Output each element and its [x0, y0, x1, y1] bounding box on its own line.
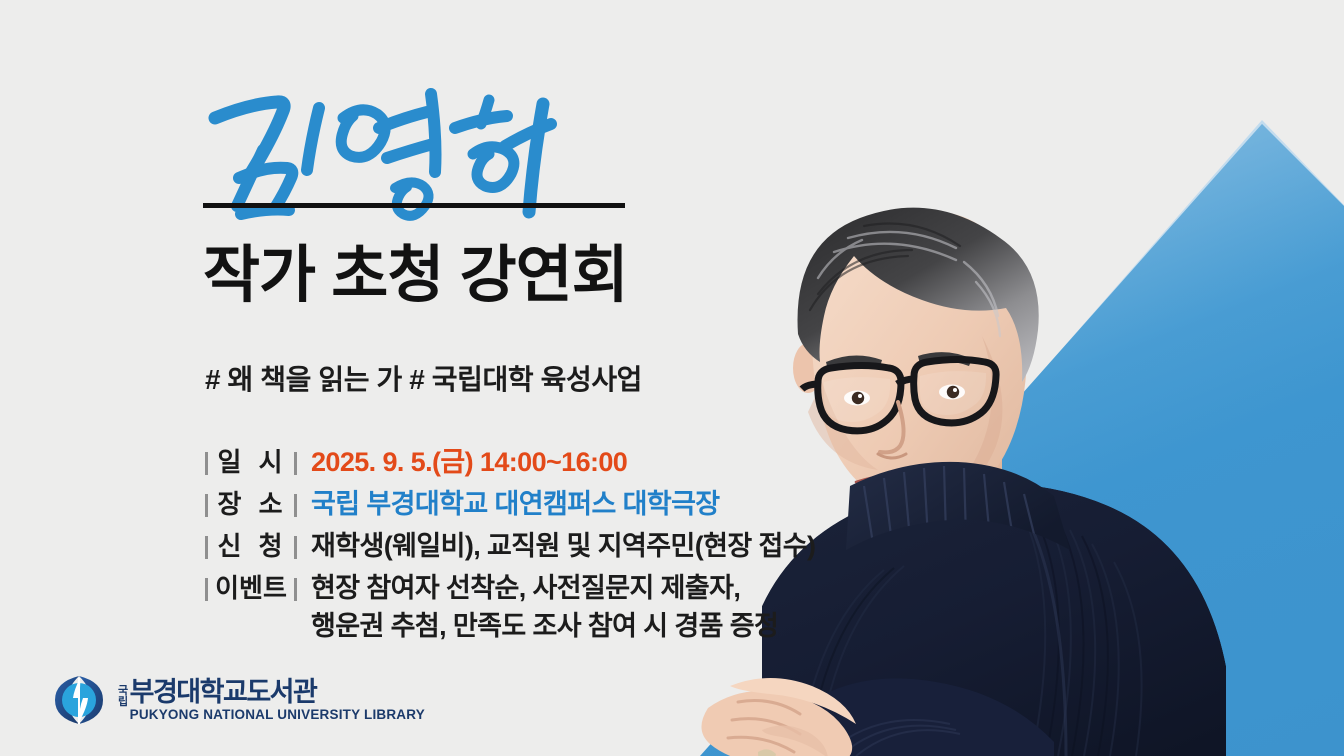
- logo-prefix-national: 국 립: [118, 686, 128, 723]
- detail-row-datetime: 일 시 2025. 9. 5.(금) 14:00~16:00: [205, 443, 905, 481]
- label-divider-bar: [205, 578, 208, 601]
- detail-value-event-line1: 현장 참여자 선착순, 사전질문지 제출자,: [311, 573, 740, 603]
- detail-value-event-line2: 행운권 추첨, 만족도 조사 참여 시 경품 증정: [311, 607, 905, 645]
- detail-label-text: 장 소: [212, 485, 289, 523]
- logo-wordmark: 국 립 부경대학교도서관 PUKYONG NATIONAL UNIVERSITY…: [118, 678, 425, 723]
- detail-label-text: 신 청: [212, 527, 289, 565]
- event-poster: 작가 초청 강연회 # 왜 책을 읽는 가 # 국립대학 육성사업 일 시 20…: [0, 0, 1344, 756]
- detail-label-event: 이벤트: [205, 569, 297, 607]
- detail-value-place: 국립 부경대학교 대연캠퍼스 대학극장: [297, 485, 905, 523]
- logo-prefix-line2: 립: [118, 697, 128, 708]
- detail-label-text: 이벤트: [213, 569, 289, 607]
- label-divider-bar: [205, 536, 208, 559]
- label-divider-bar: [205, 494, 208, 517]
- page-title: 작가 초청 강연회: [203, 243, 628, 310]
- name-underline-rule: [203, 203, 625, 208]
- detail-row-event: 이벤트 현장 참여자 선착순, 사전질문지 제출자, 행운권 추첨, 만족도 조…: [205, 569, 905, 645]
- detail-label-place: 장 소: [205, 485, 297, 523]
- detail-value-datetime: 2025. 9. 5.(금) 14:00~16:00: [297, 443, 905, 481]
- event-details: 일 시 2025. 9. 5.(금) 14:00~16:00 장 소 국립 부경…: [205, 443, 905, 649]
- label-divider-bar: [205, 452, 208, 475]
- detail-label-application: 신 청: [205, 527, 297, 565]
- logo-korean-name: 부경대학교도서관: [130, 678, 425, 707]
- hashtag-line: # 왜 책을 읽는 가 # 국립대학 육성사업: [205, 358, 642, 398]
- pukyong-emblem-icon: [48, 672, 110, 728]
- label-divider-bar: [294, 494, 297, 517]
- label-divider-bar: [294, 452, 297, 475]
- detail-value-event: 현장 참여자 선착순, 사전질문지 제출자, 행운권 추첨, 만족도 조사 참여…: [297, 569, 905, 645]
- detail-row-place: 장 소 국립 부경대학교 대연캠퍼스 대학극장: [205, 485, 905, 523]
- library-logo: 국 립 부경대학교도서관 PUKYONG NATIONAL UNIVERSITY…: [48, 672, 425, 728]
- label-divider-bar: [294, 536, 297, 559]
- detail-label-text: 일 시: [212, 443, 289, 481]
- logo-prefix-line1: 국: [118, 686, 128, 697]
- detail-row-application: 신 청 재학생(웨일비), 교직원 및 지역주민(현장 접수): [205, 527, 905, 565]
- label-divider-bar: [294, 578, 297, 601]
- logo-english-name: PUKYONG NATIONAL UNIVERSITY LIBRARY: [130, 707, 425, 723]
- detail-value-application: 재학생(웨일비), 교직원 및 지역주민(현장 접수): [297, 527, 905, 565]
- detail-label-datetime: 일 시: [205, 443, 297, 481]
